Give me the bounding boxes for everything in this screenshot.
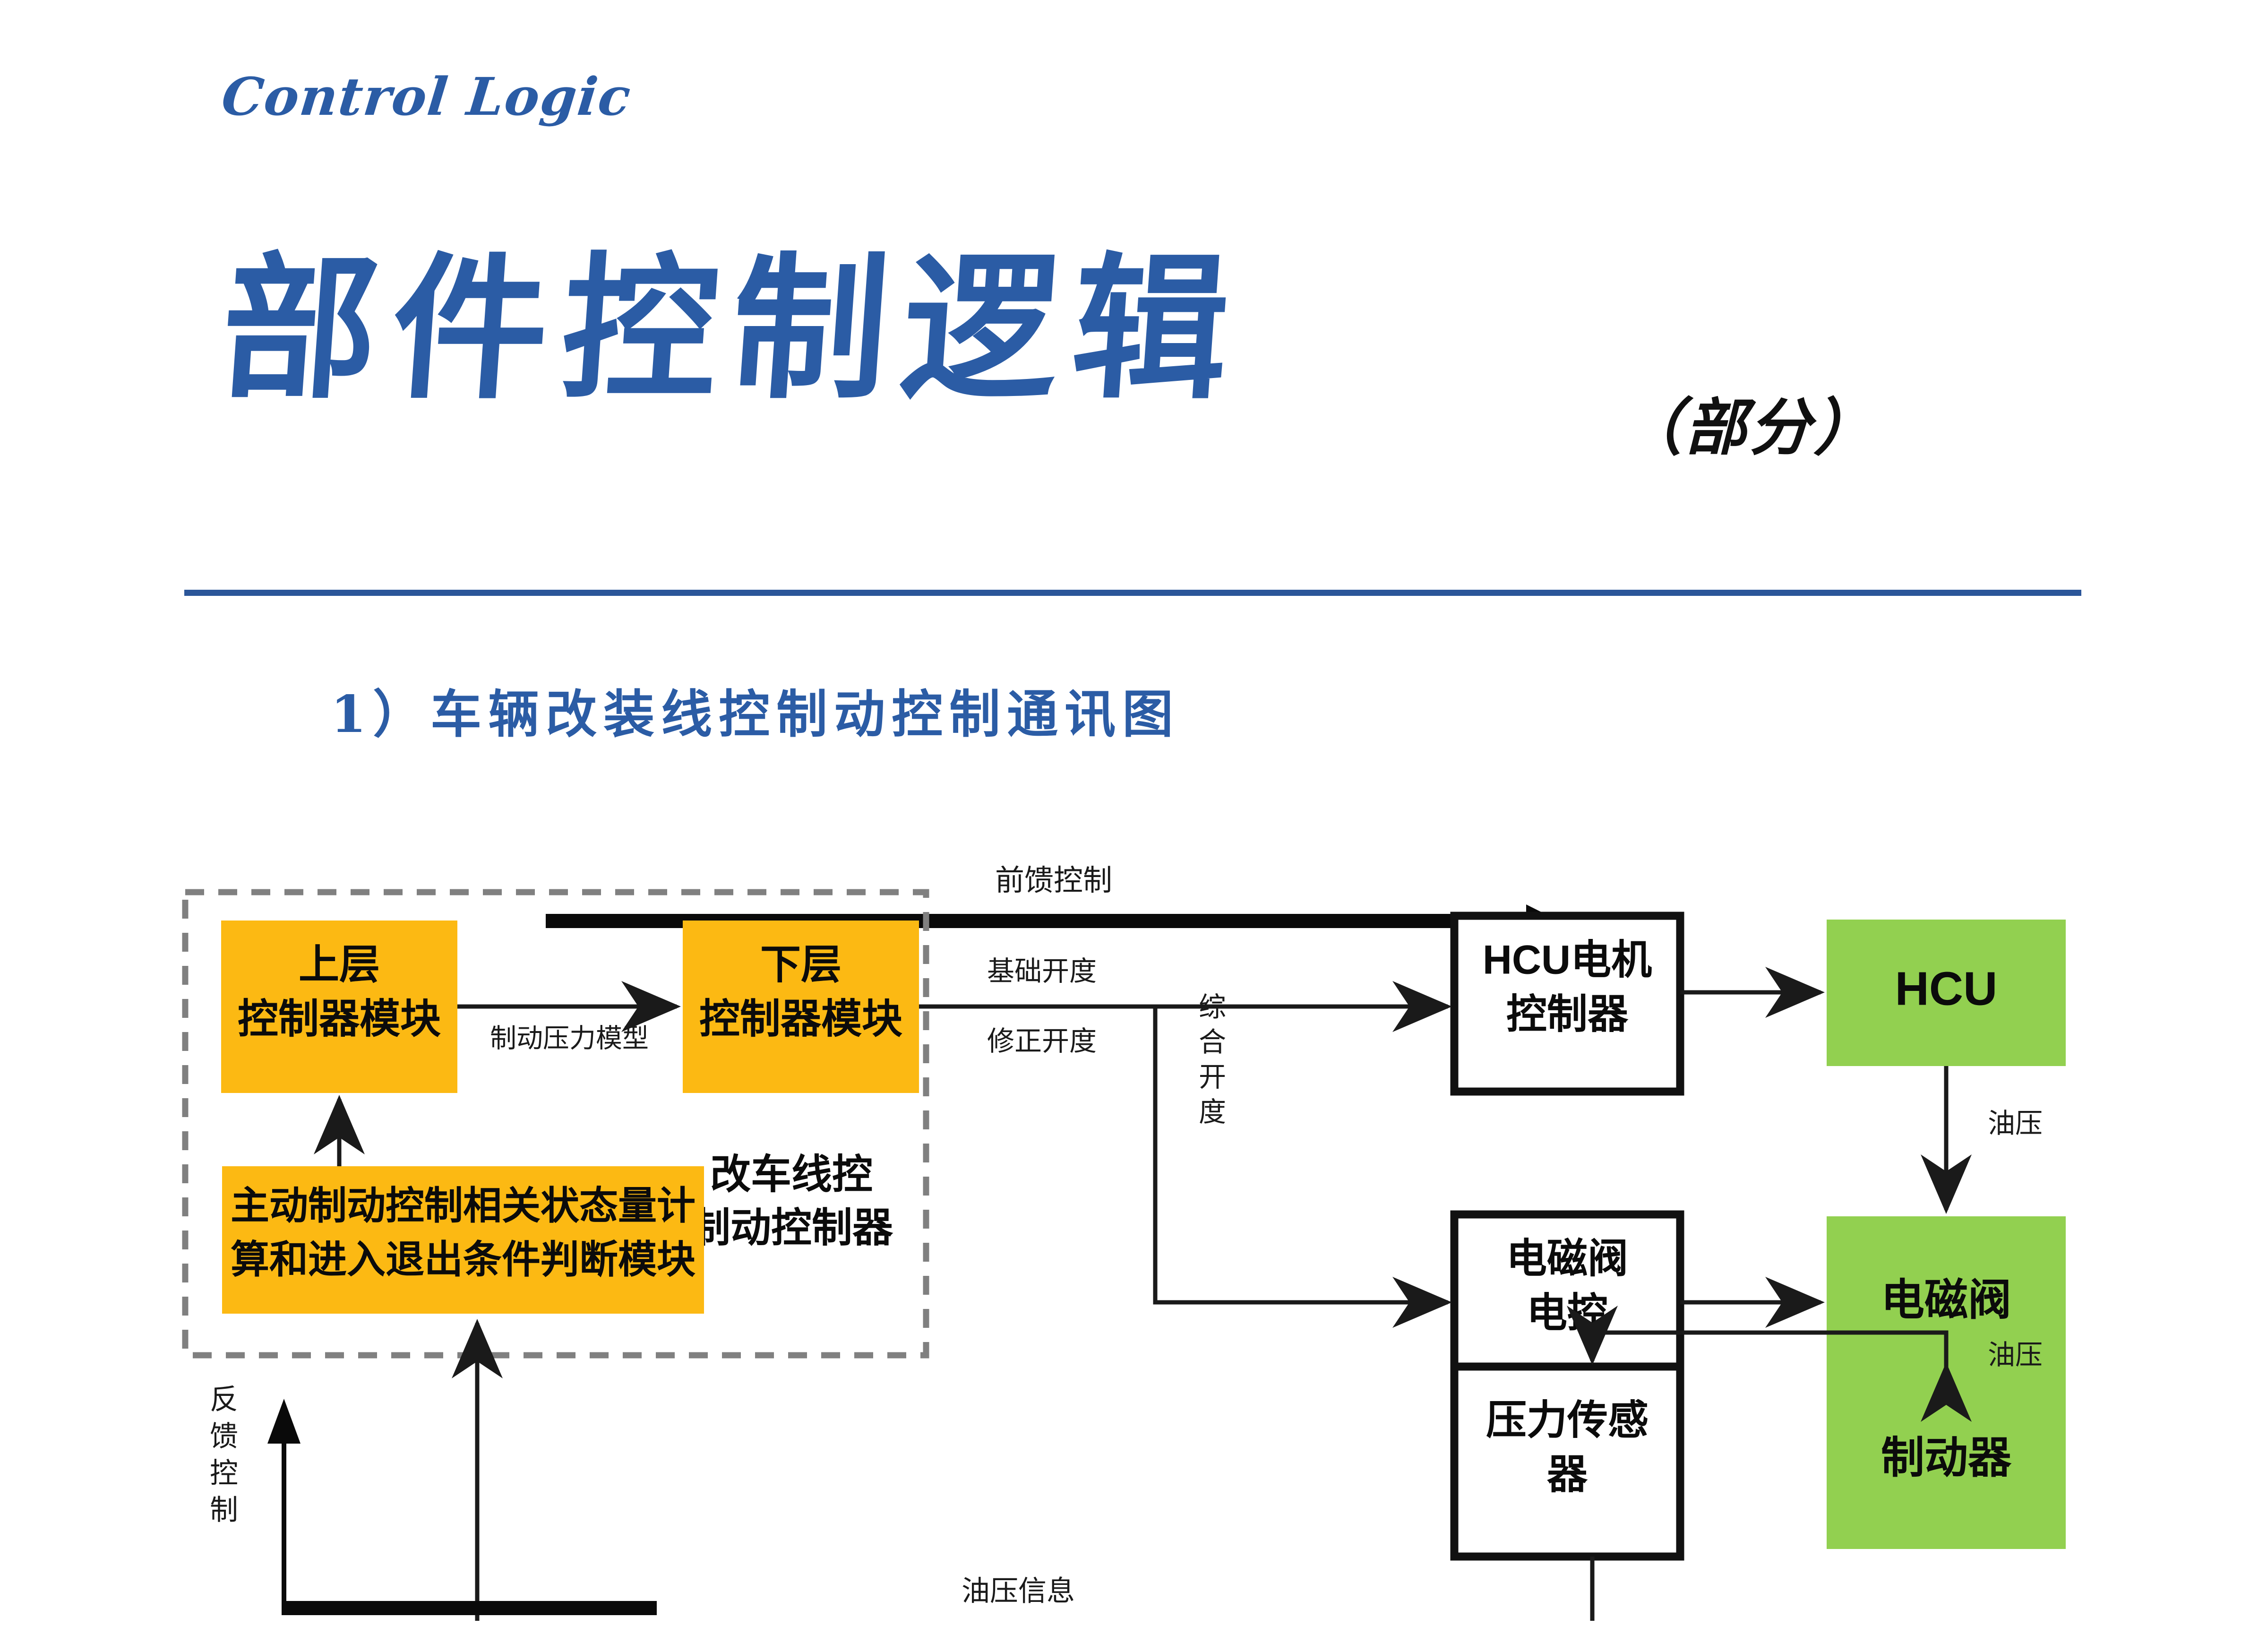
node-hcu[interactable]: HCU <box>1827 920 2066 1066</box>
node-pressure-sensor[interactable]: 压力传感 器 <box>1454 1367 1680 1557</box>
svg-text:综合开度: 综合开度 <box>1194 992 1226 1132</box>
node-lower-controller[interactable]: 下层 控制器模块 <box>683 921 919 1093</box>
node-upper-controller[interactable]: 上层 控制器模块 <box>221 921 457 1093</box>
edge-label-oil-pressure-info: 油压信息 <box>962 1575 1075 1608</box>
feedback-control-label: 反馈控制 <box>205 1384 238 1532</box>
title-divider <box>184 590 2081 596</box>
edge-label-corrected-opening: 修正开度 <box>987 1025 1097 1057</box>
node-solenoid-valve-ecu-line1: 电磁阀 <box>1506 1236 1628 1282</box>
node-pressure-sensor-line2: 器 <box>1547 1452 1588 1497</box>
edge-label-oil-pressure-1: 油压 <box>1988 1107 2043 1139</box>
edge-label-base-opening: 基础开度 <box>987 955 1097 987</box>
node-lower-controller-line2: 控制器模块 <box>699 997 902 1042</box>
node-hcu-label: HCU <box>1895 962 1998 1015</box>
edge-label-oil-pressure-2: 油压 <box>1988 1339 2043 1371</box>
diagram-canvas: 前馈控制 改车线控 制动控制器 上层 控制器模块 下层 控制器模块 制动压力模型… <box>0 770 2250 1621</box>
node-hcu-motor-controller[interactable]: HCU电机 控制器 <box>1454 916 1680 1092</box>
node-brake[interactable]: 制动器 <box>1827 1373 2066 1549</box>
control-logic-logo: Control Logic <box>219 66 634 127</box>
node-hcu-motor-controller-line1: HCU电机 <box>1483 938 1652 983</box>
edge-label-combined-opening: 综合开度 <box>1194 992 1226 1132</box>
node-state-calc-module-line2: 算和进入退出条件判断模块 <box>231 1239 696 1282</box>
node-brake-label: 制动器 <box>1881 1434 2012 1482</box>
node-pressure-sensor-line1: 压力传感 <box>1486 1398 1649 1443</box>
section-heading: 1）车辆改装线控制动控制通讯图 <box>331 673 1180 747</box>
node-upper-controller-line1: 上层 <box>299 942 380 988</box>
node-lower-controller-line1: 下层 <box>760 942 842 988</box>
feedforward-label: 前馈控制 <box>995 863 1112 897</box>
page-title-suffix: （部分） <box>1621 378 1878 467</box>
feedback-control-arrow <box>267 1399 657 1615</box>
svg-text:反馈控制: 反馈控制 <box>205 1384 238 1532</box>
node-solenoid-valve-label: 电磁阀 <box>1881 1276 2011 1324</box>
node-hcu-motor-controller-line2: 控制器 <box>1506 992 1629 1037</box>
edge-label-brake-pressure-model: 制动压力模型 <box>490 1024 649 1054</box>
page-title: 部件控制逻辑 <box>216 250 1248 406</box>
control-communication-diagram: 前馈控制 改车线控 制动控制器 上层 控制器模块 下层 控制器模块 制动压力模型… <box>0 770 2250 1621</box>
node-state-calc-module-line1: 主动制动控制相关状态量计 <box>231 1185 696 1228</box>
node-state-calc-module[interactable]: 主动制动控制相关状态量计 算和进入退出条件判断模块 <box>222 1166 704 1314</box>
node-upper-controller-line2: 控制器模块 <box>238 997 441 1042</box>
group-label-line1: 改车线控 <box>710 1152 873 1197</box>
group-label-line2: 制动控制器 <box>690 1205 893 1251</box>
node-solenoid-valve-ecu-line2: 电控 <box>1527 1291 1608 1336</box>
